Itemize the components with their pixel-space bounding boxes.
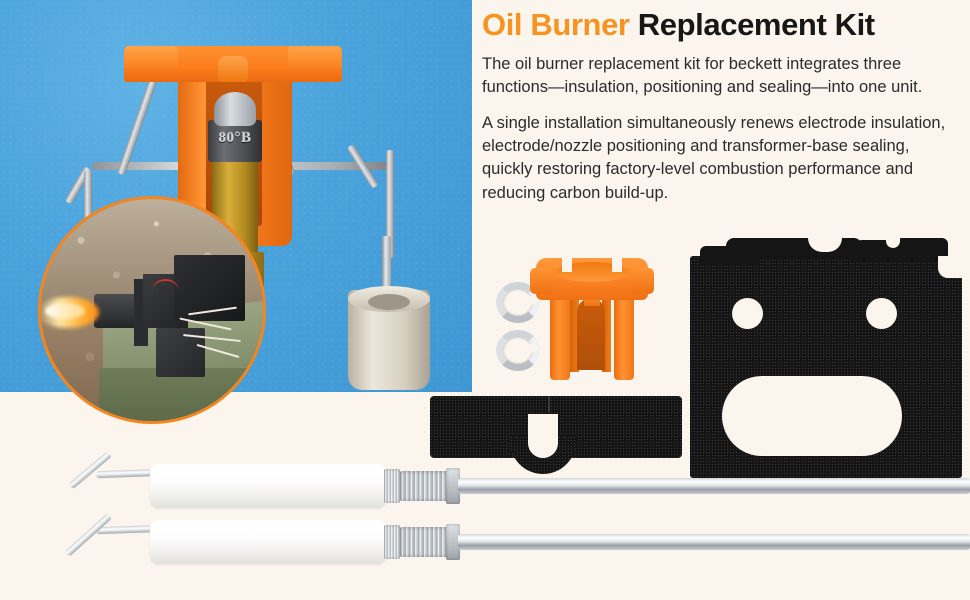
positioning-clip xyxy=(536,258,648,380)
clip-leg-right xyxy=(614,296,634,380)
clip-leg-left xyxy=(550,296,570,380)
title-accent: Oil Burner xyxy=(482,7,630,42)
hero-clip-left-tab xyxy=(124,46,178,68)
hero-ceramic-cup-bore xyxy=(368,294,410,310)
large-gasket xyxy=(690,238,962,478)
large-gasket-bolt-hole-right xyxy=(866,298,897,329)
clip-notch-right xyxy=(612,258,622,272)
large-gasket-bolt-hole-left xyxy=(732,298,763,329)
clip-notch-left xyxy=(562,258,572,272)
hero-nozzle-tip xyxy=(214,92,256,126)
hero-nozzle-hex: 80°B xyxy=(208,120,262,162)
product-banner: 80°B Oil Burner Replacement Kit The oil xyxy=(0,0,970,600)
nozzle-marking: 80°B xyxy=(208,130,262,147)
copy-block: Oil Burner Replacement Kit The oil burne… xyxy=(482,8,964,217)
large-gasket-corner-cut xyxy=(938,256,962,278)
electrode-1-rod xyxy=(458,478,970,494)
clip-lug-right xyxy=(632,268,654,294)
inset-flame-core xyxy=(45,303,85,319)
electrode-2-ferrule xyxy=(384,525,400,559)
small-gasket-notch xyxy=(528,414,558,458)
electrode-1-ferrule xyxy=(384,469,400,503)
hero-clip-right-tab xyxy=(288,46,342,68)
electrode-2-wire-bend xyxy=(65,513,113,557)
clip-inner-bore xyxy=(577,298,605,370)
clip-lug-left xyxy=(530,268,552,294)
inset-burner-photo xyxy=(38,196,266,424)
inset-red-wire xyxy=(152,279,179,303)
title-rest: Replacement Kit xyxy=(630,7,875,42)
small-gasket-seam xyxy=(548,396,550,412)
electrode-2-rod xyxy=(458,534,970,550)
electrode-2-knurled-collar xyxy=(400,527,448,557)
electrode-1-knurled-collar xyxy=(400,471,448,501)
lock-washer-2 xyxy=(496,330,540,371)
hero-clip-center-nub xyxy=(218,56,248,82)
description-paragraph-1: The oil burner replacement kit for becke… xyxy=(482,53,964,100)
electrode-1-ceramic-insulator xyxy=(150,464,386,508)
page-title: Oil Burner Replacement Kit xyxy=(482,8,964,43)
electrode-2-ceramic-insulator xyxy=(150,520,386,564)
large-gasket-center-slot xyxy=(722,376,902,456)
small-gasket xyxy=(430,396,682,468)
description-paragraph-2: A single installation simultaneously ren… xyxy=(482,112,964,206)
